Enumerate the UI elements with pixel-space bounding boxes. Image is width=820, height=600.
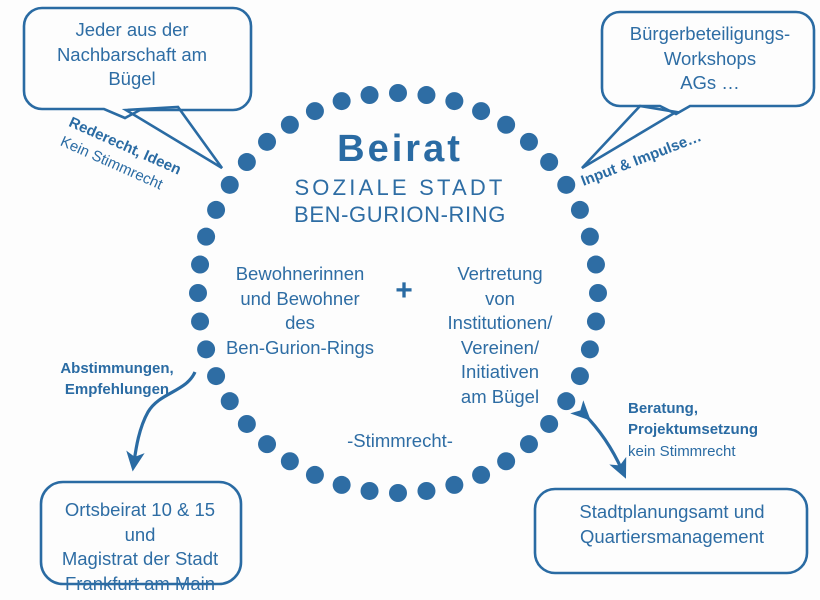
ring-dot <box>207 367 225 385</box>
ring-dot <box>191 312 209 330</box>
ring-dot <box>445 92 463 110</box>
ring-dot <box>207 201 225 219</box>
ring-dot <box>238 415 256 433</box>
ring-dot <box>221 392 239 410</box>
connector-label-bottom-left-bold: Abstimmungen,Empfehlungen <box>44 358 190 401</box>
ring-dot <box>389 84 407 102</box>
ring-dot <box>520 435 538 453</box>
ring-dot <box>497 452 515 470</box>
members-residents: Bewohnerinnenund BewohnerdesBen-Gurion-R… <box>208 262 392 360</box>
ring-dot <box>581 340 599 358</box>
connector-label-bottom-right-regular: kein Stimmrecht <box>628 441 808 462</box>
diagram-canvas: Beirat SOZIALE STADT BEN-GURION-RING Bew… <box>0 0 820 600</box>
connector-label-bottom-left: Abstimmungen,Empfehlungen <box>44 358 190 401</box>
box-label-stadtplanungsamt: Stadtplanungsamt undQuartiersmanagement <box>538 500 806 549</box>
ring-dot <box>589 284 607 302</box>
ring-dot <box>389 484 407 502</box>
ring-dot <box>587 256 605 274</box>
ring-dot <box>306 466 324 484</box>
ring-dot <box>587 312 605 330</box>
ring-dot <box>189 284 207 302</box>
ring-dot <box>197 228 215 246</box>
ring-dot <box>417 86 435 104</box>
subtitle-ben-gurion-ring: BEN-GURION-RING <box>250 202 550 229</box>
ring-dot <box>361 86 379 104</box>
arrow-beratung <box>584 414 622 470</box>
box-label-ortsbeirat: Ortsbeirat 10 & 15undMagistrat der Stadt… <box>42 498 238 596</box>
ring-dot <box>445 476 463 494</box>
ring-dot <box>557 176 575 194</box>
ring-dot <box>333 476 351 494</box>
ring-dot <box>258 435 276 453</box>
ring-dot <box>333 92 351 110</box>
ring-dot <box>571 201 589 219</box>
ring-dot <box>361 482 379 500</box>
voting-rights-note: -Stimmrecht- <box>300 430 500 453</box>
ring-dot <box>221 176 239 194</box>
ring-dot <box>281 452 299 470</box>
box-label-neighbourhood: Jeder aus derNachbarschaft amBügel <box>32 18 232 92</box>
ring-dot <box>306 102 324 120</box>
box-label-participation: Bürgerbeteiligungs-WorkshopsAGs … <box>608 22 812 96</box>
ring-dot <box>417 482 435 500</box>
page-title: Beirat <box>250 126 550 172</box>
ring-dot <box>540 415 558 433</box>
ring-dot <box>191 256 209 274</box>
members-institutions: VertretungvonInstitutionen/Vereinen/Init… <box>420 262 580 410</box>
ring-dot <box>581 228 599 246</box>
plus-icon: + <box>386 276 422 306</box>
ring-dot <box>472 466 490 484</box>
subtitle-soziale-stadt: SOZIALE STADT <box>250 175 550 202</box>
connector-label-bottom-right-bold: Beratung,Projektumsetzung <box>628 398 808 441</box>
ring-dot <box>472 102 490 120</box>
connector-label-bottom-right: Beratung,Projektumsetzung kein Stimmrech… <box>628 398 808 462</box>
